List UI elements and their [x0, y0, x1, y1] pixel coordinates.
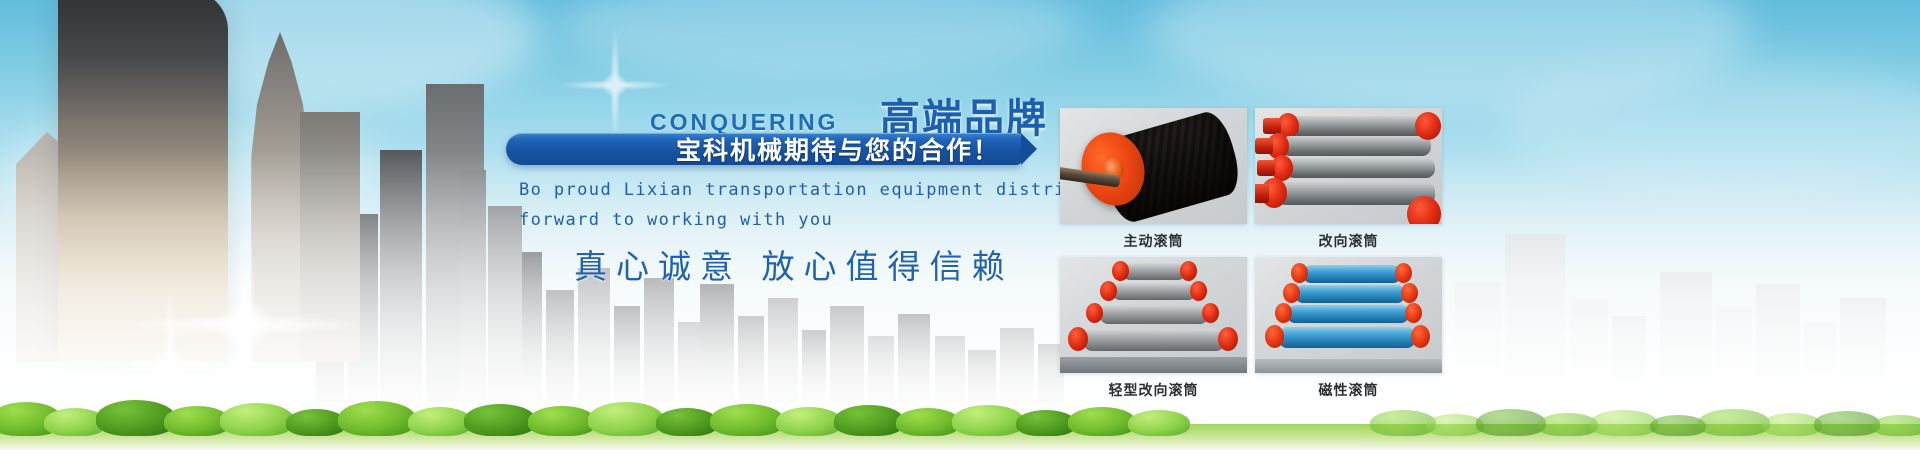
product-card-magnetic-pulley[interactable]: 磁性滚筒 [1255, 257, 1442, 402]
english-description-line-2: forward to working with you [519, 210, 833, 230]
light-bend-pulley-photo [1060, 257, 1247, 373]
slogan-pill-bar: 宝科机械期待与您的合作！ [506, 133, 1022, 165]
drive-pulley-photo [1060, 108, 1247, 224]
product-caption: 磁性滚筒 [1255, 373, 1442, 402]
headline-block: CONQUERING 高端品牌 宝科机械期待与您的合作！ Bo proud Li… [0, 0, 1920, 450]
slogan-cn: 真心诚意 放心值得信赖 [574, 240, 1014, 288]
product-caption: 主动滚筒 [1060, 224, 1247, 253]
slogan-pill-text: 宝科机械期待与您的合作！ [506, 133, 1022, 165]
product-caption: 轻型改向滚筒 [1060, 373, 1247, 402]
product-row-bottom: 轻型改向滚筒 磁性滚筒 [1060, 257, 1442, 402]
promo-banner: CONQUERING 高端品牌 宝科机械期待与您的合作！ Bo proud Li… [0, 0, 1920, 450]
product-card-light-bend-pulley[interactable]: 轻型改向滚筒 [1060, 257, 1247, 402]
magnetic-pulley-photo [1255, 257, 1442, 373]
product-thumbnail-grid: 主动滚筒 [1060, 108, 1442, 406]
bend-pulley-photo [1255, 108, 1442, 224]
product-card-bend-pulley[interactable]: 改向滚筒 [1255, 108, 1442, 253]
product-card-drive-pulley[interactable]: 主动滚筒 [1060, 108, 1247, 253]
product-row-top: 主动滚筒 [1060, 108, 1442, 253]
product-caption: 改向滚筒 [1255, 224, 1442, 253]
